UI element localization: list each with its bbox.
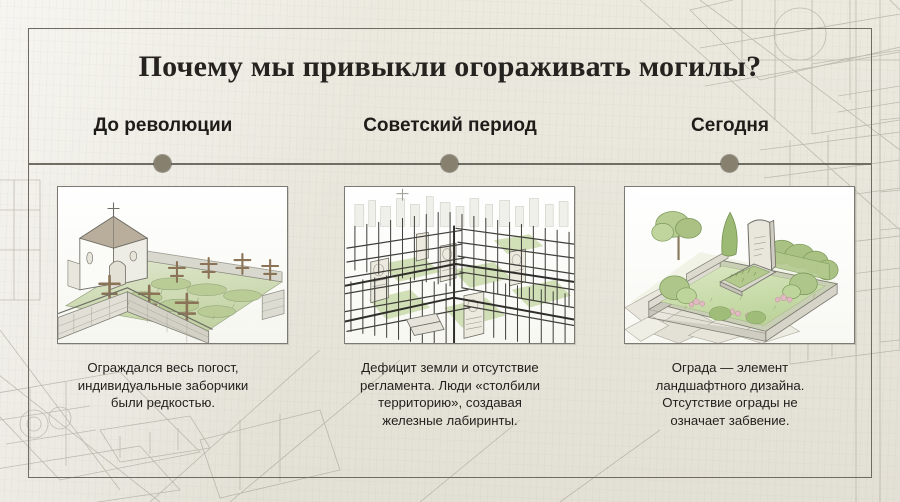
illustration-landscaped-grave — [624, 186, 855, 344]
column-caption-today: Ограда — элемент ландшафтного дизайна. О… — [598, 359, 862, 429]
slide-title: Почему мы привыкли огораживать могилы? — [0, 50, 900, 92]
column-heading-today: Сегодня — [598, 115, 862, 137]
column-soviet-period: Советский период — [318, 115, 582, 137]
column-heading-soviet-period: Советский период — [318, 115, 582, 137]
illustration-iron-fence-maze — [344, 186, 575, 344]
timeline-dot-2 — [441, 155, 458, 172]
timeline-dot-1 — [154, 155, 171, 172]
timeline-dot-3 — [721, 155, 738, 172]
column-caption-soviet-period: Дефицит земли и отсутствие регламента. Л… — [318, 359, 582, 429]
column-caption-pre-revolution: Ограждался весь погост, индивидуальные з… — [31, 359, 295, 412]
illustration-churchyard — [57, 186, 288, 344]
column-pre-revolution: До революции — [31, 115, 295, 137]
column-today: Сегодня — [598, 115, 862, 137]
column-heading-pre-revolution: До революции — [31, 115, 295, 137]
